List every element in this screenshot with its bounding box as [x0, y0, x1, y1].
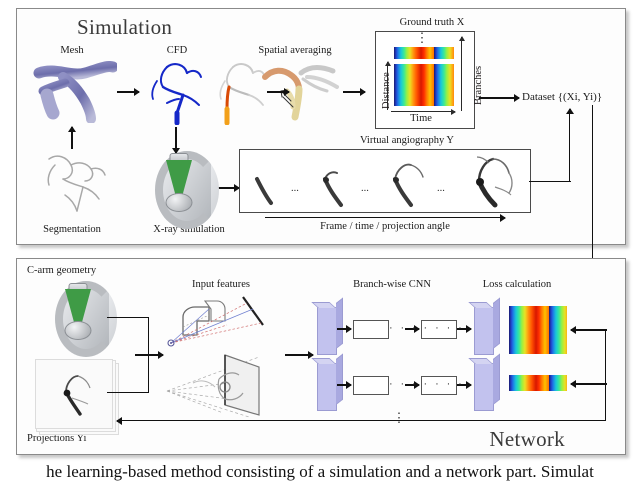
- label-branches-axis: Branches: [473, 66, 484, 105]
- loss-arrow-1: [571, 329, 607, 331]
- input-features-projection-graphic: [163, 349, 279, 421]
- angiography-ellipsis-3: ...: [437, 183, 445, 194]
- loss-heatmap-2: [509, 375, 567, 391]
- label-segmentation: Segmentation: [43, 224, 101, 235]
- loss-heatmap-1: [509, 306, 567, 354]
- label-carm-geometry: C-arm geometry: [27, 265, 96, 276]
- simulation-panel: Simulation Mesh CFD Spatial averaging Se…: [16, 8, 626, 245]
- label-projections: Projections Yi: [27, 433, 86, 444]
- angiography-frame-3: [385, 159, 429, 209]
- input-features-geometry-graphic: [165, 291, 275, 353]
- label-time-axis: Time: [410, 113, 432, 124]
- loss-arrow-2: [571, 383, 607, 385]
- cnn-input-block-2: [317, 363, 337, 411]
- label-frame-time-axis: Frame / time / projection angle: [320, 221, 450, 232]
- projections-connector-h: [107, 392, 149, 393]
- arrow-xray-to-angiography: [217, 187, 239, 189]
- network-panel: Network C-arm geometry Projections Yi In…: [16, 258, 626, 455]
- projections-stack: [35, 359, 113, 429]
- loss-feedback-h: [117, 420, 605, 421]
- cnn-layer-2a: [353, 376, 389, 395]
- dataset-to-network-line: [592, 105, 593, 265]
- angiography-ellipsis-1: ...: [291, 183, 299, 194]
- angiography-frame-4: [465, 153, 521, 209]
- cnn-arrow-2a: [337, 384, 351, 386]
- label-branch-wise-cnn: Branch-wise CNN: [353, 279, 431, 290]
- angiography-to-dataset-v: [569, 109, 570, 182]
- simulation-title: Simulation: [77, 15, 172, 40]
- angiography-to-dataset-head: [569, 109, 571, 111]
- angiography-frame-2: [317, 167, 353, 209]
- projection-vessel-graphic: [50, 370, 98, 418]
- arrow-spatial-to-groundtruth: [343, 91, 365, 93]
- angiography-ellipsis-2: ...: [361, 183, 369, 194]
- arrow-cfd-to-spatial: [267, 91, 289, 93]
- arrow-segmentation-to-mesh: [71, 127, 73, 149]
- cnn-output-block-1: [474, 307, 494, 355]
- figure-caption: he learning-based method consisting of a…: [0, 462, 640, 482]
- ground-truth-branches-axis: [461, 37, 462, 111]
- loss-feedback-v: [605, 329, 606, 421]
- label-distance-axis: Distance: [381, 72, 392, 109]
- cnn-arrow-1a: [337, 328, 351, 330]
- cnn-layer-1a: [353, 320, 389, 339]
- spatial-averaging-graphic: [257, 57, 341, 123]
- label-mesh: Mesh: [60, 45, 83, 56]
- network-title: Network: [489, 427, 565, 452]
- angiography-to-dataset-h: [529, 181, 571, 182]
- dataset-label: Dataset {(Xi, Yi)}: [522, 91, 602, 103]
- label-ground-truth: Ground truth X: [400, 17, 465, 28]
- label-spatial-averaging: Spatial averaging: [258, 45, 331, 56]
- carm-connector-h: [107, 317, 149, 318]
- ground-truth-heatmap-lower: [394, 64, 454, 106]
- cnn-dots-1: · · · · · · ·: [389, 322, 464, 334]
- label-loss-calculation: Loss calculation: [483, 279, 552, 290]
- network-c-arm-graphic: [55, 281, 101, 341]
- label-cfd: CFD: [167, 45, 187, 56]
- cnn-input-block-1: [317, 307, 337, 355]
- cnn-output-block-2: [474, 363, 494, 411]
- arrow-groundtruth-to-dataset: [479, 97, 519, 99]
- c-arm-graphic: [155, 151, 203, 213]
- arrow-cfd-to-xray: [175, 127, 177, 153]
- arrow-to-input-features: [135, 354, 163, 356]
- angiography-axis-arrow: [265, 217, 505, 219]
- arrow-mesh-to-cfd: [117, 91, 139, 93]
- cfd-velocity-graphic: [137, 59, 207, 125]
- loss-feedback-head: [117, 420, 121, 422]
- ground-truth-vdots: ⋮: [415, 35, 429, 42]
- segmentation-vessel-graphic: [35, 149, 113, 217]
- angiography-frame-1: [251, 175, 281, 207]
- cnn-dots-2: · · · · · · ·: [389, 378, 464, 390]
- arrow-to-cnn: [285, 354, 313, 356]
- mesh-vessel-graphic: [33, 61, 117, 123]
- ground-truth-heatmap-upper: [394, 47, 454, 59]
- label-virtual-angiography: Virtual angiography Y: [360, 135, 454, 146]
- label-input-features: Input features: [192, 279, 250, 290]
